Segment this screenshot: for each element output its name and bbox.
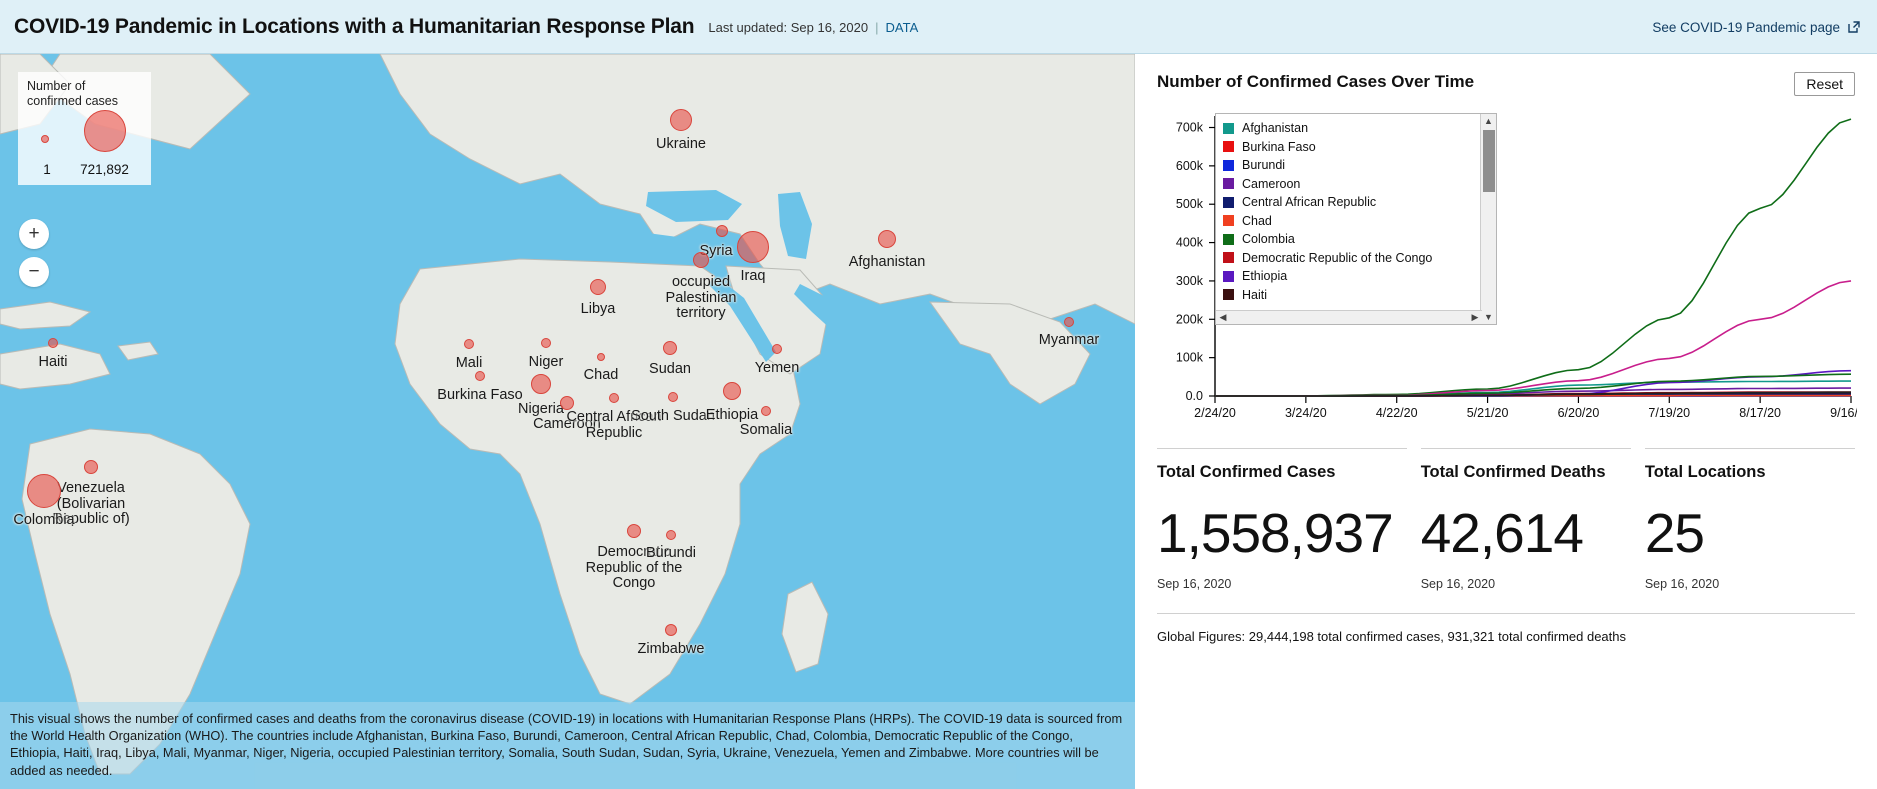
external-link-icon bbox=[1847, 20, 1861, 34]
stat-card: Total Confirmed Cases1,558,937Sep 16, 20… bbox=[1157, 448, 1407, 591]
map-legend-bubbles bbox=[27, 113, 142, 161]
chart-legend-horizontal-scrollbar[interactable]: ◀ ▶ bbox=[1216, 310, 1482, 324]
legend-series-label: Haiti bbox=[1242, 288, 1267, 302]
svg-text:500k: 500k bbox=[1176, 197, 1204, 211]
chart-y-axis: 0.0100k200k300k400k500k600k700k bbox=[1176, 116, 1215, 403]
legend-series-label: Democratic Republic of the Congo bbox=[1242, 251, 1432, 265]
scroll-right-icon[interactable]: ▶ bbox=[1468, 311, 1482, 324]
map-legend-max-value: 721,892 bbox=[67, 162, 142, 177]
reset-button[interactable]: Reset bbox=[1794, 72, 1855, 96]
chart-legend-scroll-thumb[interactable] bbox=[1483, 130, 1495, 192]
chart-legend-row[interactable]: Cameroon bbox=[1223, 175, 1480, 194]
scroll-down-icon[interactable]: ▼ bbox=[1481, 310, 1496, 324]
stat-card-value: 1,558,937 bbox=[1157, 506, 1393, 561]
global-figures-text: Global Figures: 29,444,198 total confirm… bbox=[1157, 613, 1855, 644]
chart-legend-row[interactable]: Haiti bbox=[1223, 286, 1480, 305]
stat-card-label: Total Confirmed Cases bbox=[1157, 463, 1393, 482]
map-bubble[interactable] bbox=[772, 344, 782, 354]
stat-card-label: Total Locations bbox=[1645, 463, 1841, 482]
map-bubble[interactable] bbox=[878, 230, 896, 248]
legend-color-swatch bbox=[1223, 160, 1234, 171]
map-footnote: This visual shows the number of confirme… bbox=[0, 702, 1135, 789]
map-bubble[interactable] bbox=[609, 393, 619, 403]
legend-series-label: Cameroon bbox=[1242, 177, 1300, 191]
svg-text:8/17/20: 8/17/20 bbox=[1739, 406, 1781, 420]
stat-card-value: 25 bbox=[1645, 506, 1841, 561]
map-bubble[interactable] bbox=[590, 279, 606, 295]
map-bubble[interactable] bbox=[1064, 317, 1074, 327]
map-zoom-in-button[interactable]: + bbox=[19, 219, 49, 249]
see-covid-pandemic-page-label: See COVID-19 Pandemic page bbox=[1652, 20, 1840, 35]
chart-legend-row[interactable]: Burkina Faso bbox=[1223, 138, 1480, 157]
svg-text:5/21/20: 5/21/20 bbox=[1467, 406, 1509, 420]
map-bubble[interactable] bbox=[723, 382, 741, 400]
svg-text:6/20/20: 6/20/20 bbox=[1558, 406, 1600, 420]
svg-text:200k: 200k bbox=[1176, 312, 1204, 326]
legend-series-label: Chad bbox=[1242, 214, 1272, 228]
legend-series-label: Afghanistan bbox=[1242, 121, 1308, 135]
map-bubble[interactable] bbox=[475, 371, 485, 381]
right-panel: Number of Confirmed Cases Over Time Rese… bbox=[1135, 54, 1877, 789]
confirmed-cases-line-chart[interactable]: 0.0100k200k300k400k500k600k700k 2/24/203… bbox=[1157, 110, 1857, 440]
chart-series-legend[interactable]: AfghanistanBurkina FasoBurundiCameroonCe… bbox=[1215, 113, 1497, 325]
legend-series-label: Colombia bbox=[1242, 232, 1295, 246]
map-legend-large-bubble bbox=[84, 110, 126, 152]
svg-text:9/16/20: 9/16/20 bbox=[1830, 406, 1857, 420]
chart-legend-row[interactable]: Democratic Republic of the Congo bbox=[1223, 249, 1480, 268]
map-bubble[interactable] bbox=[668, 392, 678, 402]
map-bubble[interactable] bbox=[541, 338, 551, 348]
chart-legend-items: AfghanistanBurkina FasoBurundiCameroonCe… bbox=[1216, 114, 1480, 324]
stat-card-date: Sep 16, 2020 bbox=[1421, 577, 1617, 591]
svg-text:400k: 400k bbox=[1176, 236, 1204, 250]
legend-color-swatch bbox=[1223, 123, 1234, 134]
legend-color-swatch bbox=[1223, 215, 1234, 226]
map-bubble[interactable] bbox=[560, 396, 574, 410]
map-bubble[interactable] bbox=[48, 338, 58, 348]
svg-text:600k: 600k bbox=[1176, 159, 1204, 173]
data-link[interactable]: DATA bbox=[886, 20, 919, 35]
header-left-group: COVID-19 Pandemic in Locations with a Hu… bbox=[14, 0, 918, 54]
map-legend-min-value: 1 bbox=[27, 162, 67, 177]
see-covid-pandemic-page-link[interactable]: See COVID-19 Pandemic page bbox=[1652, 0, 1861, 54]
stat-card-value: 42,614 bbox=[1421, 506, 1617, 561]
map-legend-title: Number of confirmed cases bbox=[27, 79, 142, 109]
page-title: COVID-19 Pandemic in Locations with a Hu… bbox=[14, 15, 694, 39]
stat-card: Total Confirmed Deaths42,614Sep 16, 2020 bbox=[1421, 448, 1631, 591]
svg-text:700k: 700k bbox=[1176, 121, 1204, 135]
stat-card-date: Sep 16, 2020 bbox=[1645, 577, 1841, 591]
chart-x-axis: 2/24/203/24/204/22/205/21/206/20/207/19/… bbox=[1194, 396, 1857, 420]
chart-header: Number of Confirmed Cases Over Time Rese… bbox=[1157, 72, 1855, 96]
map-bubble[interactable] bbox=[627, 524, 641, 538]
chart-legend-row[interactable]: Colombia bbox=[1223, 230, 1480, 249]
chart-legend-row[interactable]: Afghanistan bbox=[1223, 119, 1480, 138]
legend-series-label: Burkina Faso bbox=[1242, 140, 1316, 154]
chart-legend-row[interactable]: Chad bbox=[1223, 212, 1480, 231]
map-zoom-out-button[interactable]: − bbox=[19, 257, 49, 287]
stat-card: Total Locations25Sep 16, 2020 bbox=[1645, 448, 1855, 591]
chart-legend-row[interactable]: Ethiopia bbox=[1223, 267, 1480, 286]
header-meta: Last updated: Sep 16, 2020 | DATA bbox=[708, 20, 918, 35]
scroll-left-icon[interactable]: ◀ bbox=[1216, 311, 1230, 324]
map-bubble[interactable] bbox=[531, 374, 551, 394]
legend-color-swatch bbox=[1223, 178, 1234, 189]
map-legend: Number of confirmed cases 1 721,892 bbox=[18, 72, 151, 185]
meta-separator: | bbox=[875, 20, 878, 35]
svg-text:4/22/20: 4/22/20 bbox=[1376, 406, 1418, 420]
stat-card-date: Sep 16, 2020 bbox=[1157, 577, 1393, 591]
scroll-up-icon[interactable]: ▲ bbox=[1481, 114, 1496, 128]
chart-legend-vertical-scrollbar[interactable]: ▲ ▼ bbox=[1480, 114, 1496, 324]
world-map[interactable]: UkraineAfghanistanMyanmarSyriaIraqoccupi… bbox=[0, 54, 1135, 789]
svg-text:100k: 100k bbox=[1176, 351, 1204, 365]
legend-color-swatch bbox=[1223, 141, 1234, 152]
svg-text:2/24/20: 2/24/20 bbox=[1194, 406, 1236, 420]
map-bubble[interactable] bbox=[737, 231, 769, 263]
legend-color-swatch bbox=[1223, 252, 1234, 263]
legend-series-label: Burundi bbox=[1242, 158, 1285, 172]
map-bubble[interactable] bbox=[464, 339, 474, 349]
app-header: COVID-19 Pandemic in Locations with a Hu… bbox=[0, 0, 1877, 54]
last-updated-text: Last updated: Sep 16, 2020 bbox=[708, 20, 868, 35]
map-bubble[interactable] bbox=[716, 225, 728, 237]
legend-color-swatch bbox=[1223, 234, 1234, 245]
legend-color-swatch bbox=[1223, 197, 1234, 208]
map-bubble[interactable] bbox=[693, 252, 709, 268]
map-landmass-svg bbox=[0, 54, 1135, 789]
map-bubble[interactable] bbox=[666, 530, 676, 540]
map-bubble[interactable] bbox=[670, 109, 692, 131]
map-legend-values: 1 721,892 bbox=[27, 162, 142, 177]
svg-text:7/19/20: 7/19/20 bbox=[1648, 406, 1690, 420]
statistics-row: Total Confirmed Cases1,558,937Sep 16, 20… bbox=[1157, 448, 1855, 591]
map-bubble[interactable] bbox=[665, 624, 677, 636]
legend-series-label: Central African Republic bbox=[1242, 195, 1376, 209]
svg-text:300k: 300k bbox=[1176, 274, 1204, 288]
map-bubble[interactable] bbox=[84, 460, 98, 474]
stat-card-label: Total Confirmed Deaths bbox=[1421, 463, 1617, 482]
legend-color-swatch bbox=[1223, 271, 1234, 282]
map-bubble[interactable] bbox=[761, 406, 771, 416]
legend-series-label: Ethiopia bbox=[1242, 269, 1287, 283]
svg-text:0.0: 0.0 bbox=[1186, 389, 1203, 403]
map-legend-small-bubble bbox=[41, 135, 49, 143]
map-bubble[interactable] bbox=[663, 341, 677, 355]
map-bubble[interactable] bbox=[27, 474, 61, 508]
svg-text:3/24/20: 3/24/20 bbox=[1285, 406, 1327, 420]
map-bubble[interactable] bbox=[597, 353, 605, 361]
chart-title: Number of Confirmed Cases Over Time bbox=[1157, 72, 1474, 92]
legend-color-swatch bbox=[1223, 289, 1234, 300]
chart-legend-row[interactable]: Central African Republic bbox=[1223, 193, 1480, 212]
chart-legend-row[interactable]: Burundi bbox=[1223, 156, 1480, 175]
